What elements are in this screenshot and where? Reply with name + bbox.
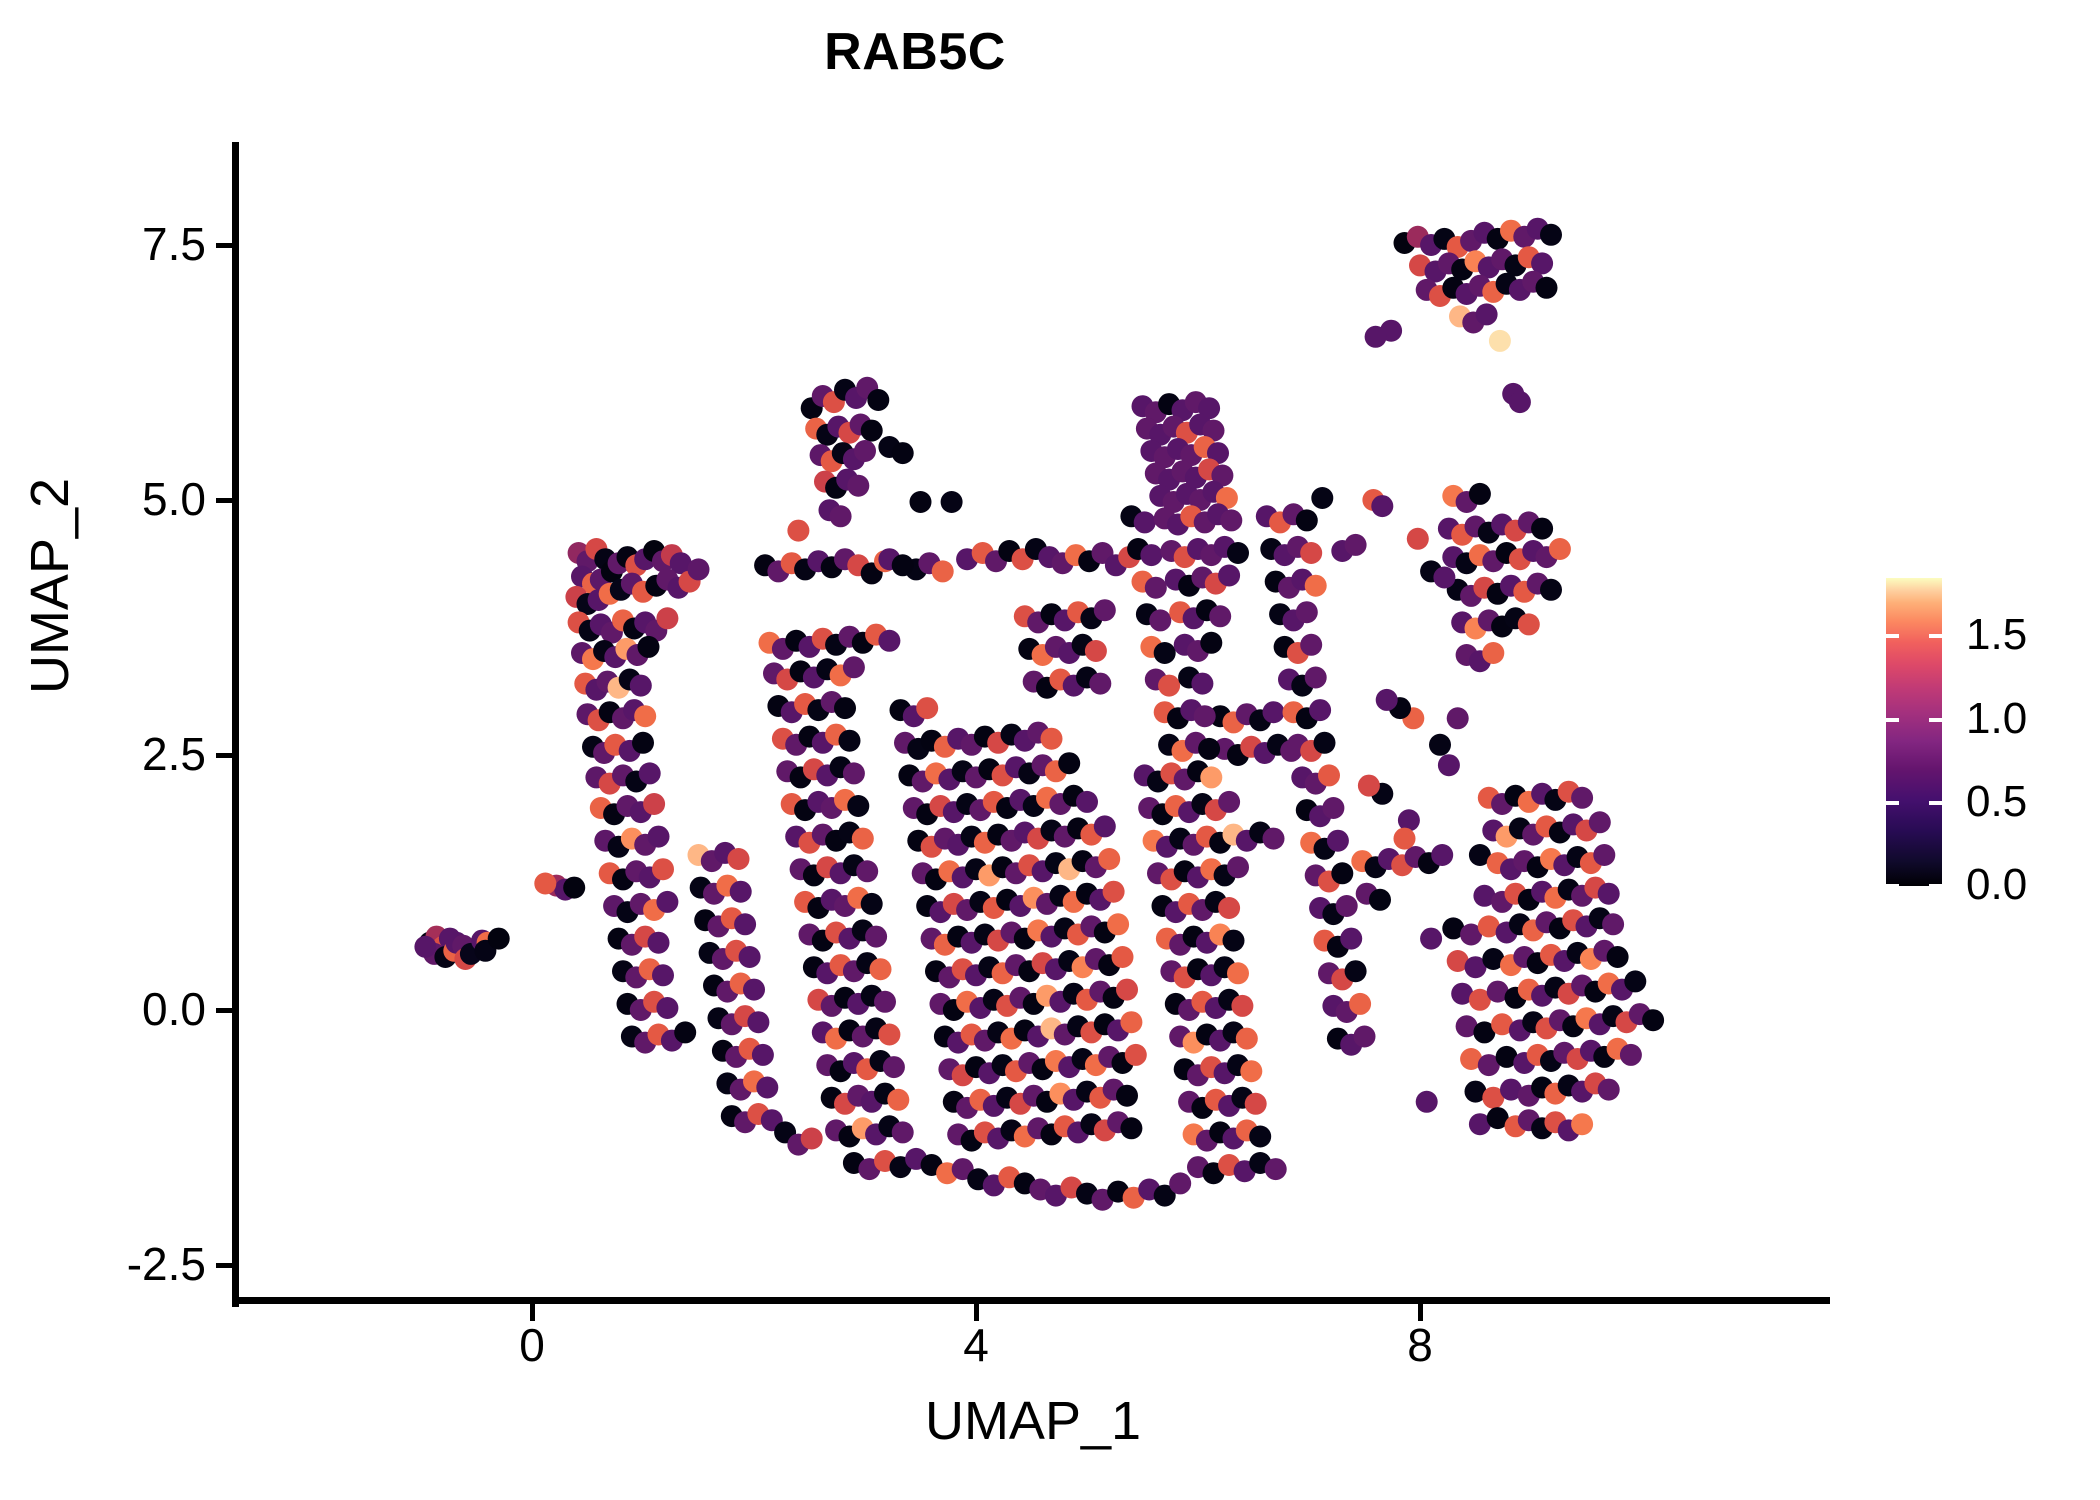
x-axis-line (232, 1297, 1830, 1304)
colorbar-gradient[interactable] (1886, 578, 1942, 886)
colorbar-tick (1929, 634, 1942, 638)
y-tick-mark (216, 498, 232, 503)
y-tick-label: -2.5 (36, 1241, 206, 1287)
y-axis-line (232, 142, 239, 1307)
x-tick-label: 0 (472, 1322, 592, 1368)
y-tick-mark (216, 753, 232, 758)
colorbar-tick-label: 0.0 (1966, 863, 2027, 907)
colorbar-legend: 0.00.51.01.5 (1880, 560, 2100, 920)
colorbar-tick (1886, 801, 1899, 805)
x-tick-label: 4 (916, 1322, 1036, 1368)
chart-root: RAB5C -2.50.02.55.07.5048 UMAP_2 UMAP_1 … (0, 0, 2100, 1500)
colorbar-tick (1886, 884, 1899, 888)
colorbar-tick-label: 1.0 (1966, 697, 2027, 741)
page-title: RAB5C (0, 22, 1830, 82)
colorbar-tick (1886, 634, 1899, 638)
x-tick-label: 8 (1360, 1322, 1480, 1368)
colorbar-tick (1929, 801, 1942, 805)
colorbar-tick-label: 1.5 (1966, 613, 2027, 657)
colorbar-tick-label: 0.5 (1966, 780, 2027, 824)
colorbar-tick (1886, 718, 1899, 722)
y-tick-mark (216, 243, 232, 248)
y-axis-title: UMAP_2 (19, 236, 81, 936)
colorbar-tick (1929, 718, 1942, 722)
y-tick-mark (216, 1263, 232, 1268)
scatter-points-layer (236, 142, 1830, 1300)
x-axis-title: UMAP_1 (236, 1390, 1830, 1452)
y-tick-mark (216, 1008, 232, 1013)
y-tick-label: 0.0 (36, 986, 206, 1032)
plot-panel (236, 142, 1830, 1300)
colorbar-tick (1929, 884, 1942, 888)
